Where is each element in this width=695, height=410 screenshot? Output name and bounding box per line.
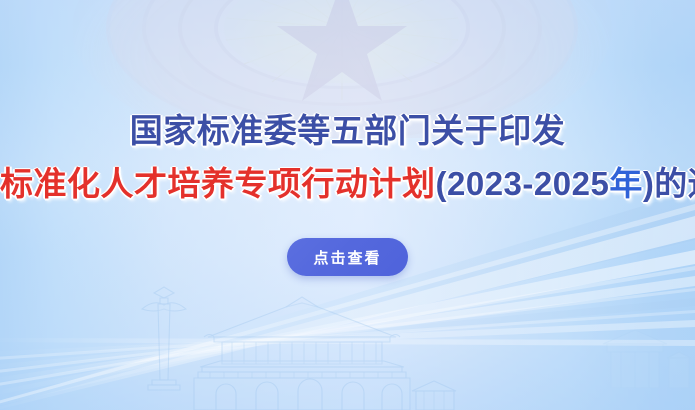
diagonal-light-rays xyxy=(0,180,695,410)
headline-segment-period-open: (2023-2025 xyxy=(436,165,610,202)
notice-banner: 国家标准委等五部门关于印发 标准化人才培养专项行动计划(2023-2025年)的… xyxy=(0,0,695,410)
tiananmen-gate-icon xyxy=(90,275,510,410)
headline-segment-notice-suffix: )的通知 xyxy=(643,165,695,202)
background-vertical-wash xyxy=(0,0,695,410)
headline-segment-period-year-char: 年 xyxy=(609,165,643,202)
headline-segment-plan-name: 标准化人才培养专项行动计划 xyxy=(0,165,436,202)
view-details-button[interactable]: 点击查看 xyxy=(287,238,407,276)
secondary-building-icon xyxy=(595,318,691,388)
headline-line-1: 国家标准委等五部门关于印发 xyxy=(0,112,695,151)
headline-line-2: 标准化人才培养专项行动计划(2023-2025年)的通知 xyxy=(0,165,695,204)
national-emblem-rosette-star-icon xyxy=(62,0,622,138)
cta-container: 点击查看 xyxy=(0,238,695,276)
headline-block: 国家标准委等五部门关于印发 标准化人才培养专项行动计划(2023-2025年)的… xyxy=(0,112,695,204)
